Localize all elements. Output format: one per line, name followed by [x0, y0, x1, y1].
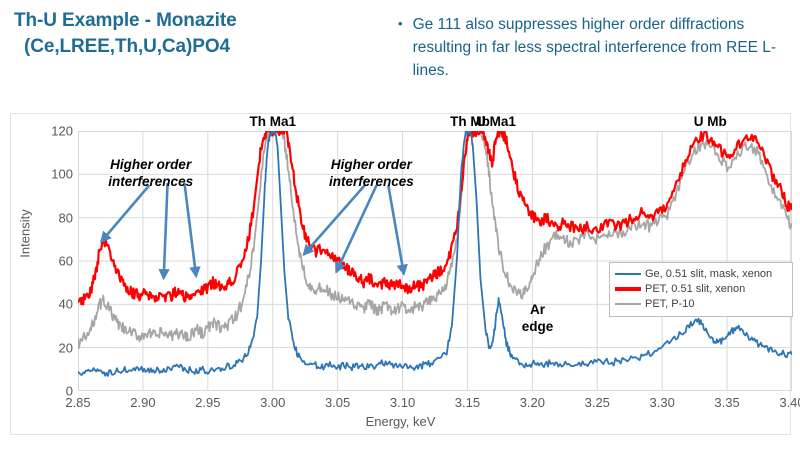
y-axis-title: Intensity — [18, 184, 33, 284]
y-tick-label: 120 — [39, 124, 73, 139]
y-tick-label: 20 — [39, 340, 73, 355]
title-line-1: Th-U Example - Monazite — [14, 10, 237, 31]
legend-color-swatch — [615, 303, 641, 305]
y-tick-label: 40 — [39, 297, 73, 312]
legend-item-label: PET, P-10 — [645, 298, 695, 310]
page-title: Th-U Example - Monazite (Ce,LREE,Th,U,Ca… — [14, 8, 384, 59]
annotation-line-1: Ar — [522, 302, 554, 319]
peak-label: Th Ma1 — [249, 114, 296, 129]
annotation-line-2: edge — [522, 319, 554, 336]
annotation-line-2: interferences — [108, 174, 193, 191]
x-tick-label: 2.95 — [178, 395, 238, 410]
y-tick-label: 60 — [39, 254, 73, 269]
x-tick-label: 3.25 — [567, 395, 627, 410]
spectrum-chart: Intensity 020406080100120 2.852.902.953.… — [10, 113, 791, 435]
annotation-line-2: interferences — [329, 174, 414, 191]
x-tick-label: 3.00 — [243, 395, 303, 410]
legend-item[interactable]: PET, 0.51 slit, xenon — [615, 282, 787, 296]
bullet-item-text: Ge 111 also suppresses higher order diff… — [413, 14, 794, 83]
legend-color-swatch — [615, 287, 641, 291]
x-axis-title: Energy, keV — [11, 414, 790, 429]
x-tick-label: 2.85 — [48, 395, 108, 410]
y-tick-label: 80 — [39, 210, 73, 225]
x-tick-label: 3.15 — [437, 395, 497, 410]
x-tick-label: 2.90 — [113, 395, 173, 410]
annotation-arrows — [101, 183, 403, 278]
x-tick-label: 3.05 — [308, 395, 368, 410]
x-tick-label: 3.20 — [502, 395, 562, 410]
legend-item[interactable]: PET, P-10 — [615, 297, 787, 311]
legend-item[interactable]: Ge, 0.51 slit, mask, xenon — [615, 267, 787, 281]
chart-legend: Ge, 0.51 slit, mask, xenonPET, 0.51 slit… — [609, 262, 793, 317]
legend-item-label: Ge, 0.51 slit, mask, xenon — [645, 268, 772, 280]
peak-label: U Mb — [694, 114, 727, 129]
peak-label: U Ma1 — [476, 114, 516, 129]
y-axis-ticks: 020406080100120 — [33, 131, 73, 391]
bullet-marker-icon: • — [398, 14, 403, 83]
annotation-line-1: Higher order — [329, 157, 414, 174]
legend-color-swatch — [615, 273, 641, 275]
x-axis-ticks: 2.852.902.953.003.053.103.153.203.253.30… — [78, 395, 792, 413]
x-tick-label: 3.35 — [697, 395, 757, 410]
legend-item-label: PET, 0.51 slit, xenon — [645, 283, 745, 295]
x-tick-label: 3.10 — [373, 395, 433, 410]
higher-order-annotation: Higher orderinterferences — [108, 157, 193, 191]
ar-edge-annotation: Aredge — [522, 302, 554, 336]
x-tick-label: 3.40 — [762, 395, 800, 410]
bullet-list: • Ge 111 also suppresses higher order di… — [398, 14, 794, 83]
annotation-line-1: Higher order — [108, 157, 193, 174]
higher-order-annotation: Higher orderinterferences — [329, 157, 414, 191]
y-tick-label: 100 — [39, 167, 73, 182]
title-line-2: (Ce,LREE,Th,U,Ca)PO4 — [14, 34, 384, 60]
x-tick-label: 3.30 — [632, 395, 692, 410]
